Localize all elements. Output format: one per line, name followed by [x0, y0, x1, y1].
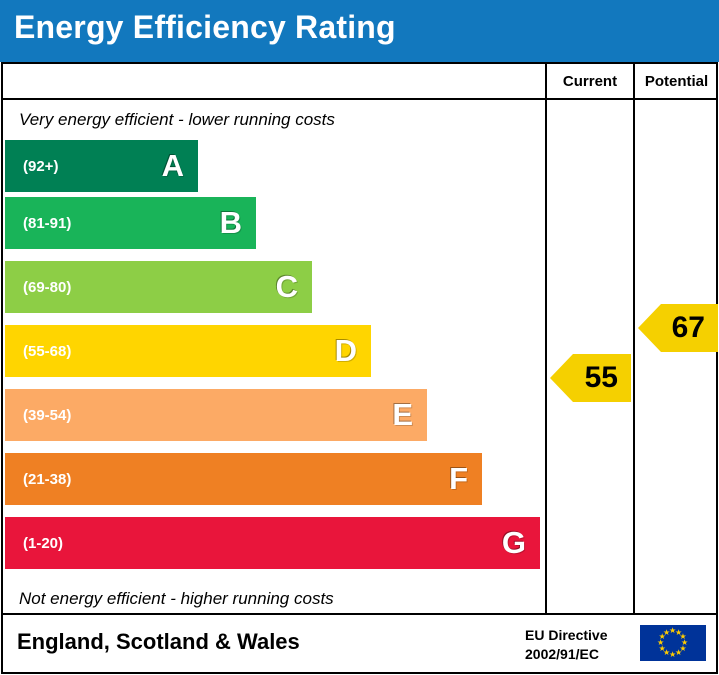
- page-title: Energy Efficiency Rating: [14, 9, 396, 46]
- band-b-letter: B: [220, 205, 242, 241]
- band-f: (21-38) F: [5, 453, 482, 505]
- chart-frame: Current Potential Very energy efficient …: [1, 62, 718, 615]
- column-header-current: Current: [547, 73, 633, 90]
- column-divider-current: [545, 64, 547, 613]
- band-d-letter: D: [335, 333, 357, 369]
- band-c-range: (69-80): [23, 279, 71, 296]
- current-rating-value: 55: [585, 361, 631, 395]
- band-a-range: (92+): [23, 158, 58, 175]
- band-d: (55-68) D: [5, 325, 371, 377]
- footer-region: England, Scotland & Wales: [17, 629, 300, 655]
- footer-directive-line1: EU Directive: [525, 626, 607, 645]
- column-header-potential: Potential: [635, 73, 718, 90]
- potential-rating-value: 67: [672, 311, 718, 345]
- column-divider-potential: [633, 64, 635, 613]
- band-c-letter: C: [276, 269, 298, 305]
- band-d-range: (55-68): [23, 343, 71, 360]
- title-bar: Energy Efficiency Rating: [0, 0, 719, 62]
- band-f-range: (21-38): [23, 471, 71, 488]
- band-g-range: (1-20): [23, 535, 63, 552]
- band-e-range: (39-54): [23, 407, 71, 424]
- band-a: (92+) A: [5, 140, 198, 192]
- band-e-letter: E: [392, 397, 413, 433]
- footer-directive: EU Directive 2002/91/EC: [525, 626, 607, 664]
- band-g: (1-20) G: [5, 517, 540, 569]
- band-f-letter: F: [449, 461, 468, 497]
- footer-directive-line2: 2002/91/EC: [525, 645, 607, 664]
- caption-top: Very energy efficient - lower running co…: [19, 110, 335, 130]
- epc-chart: Energy Efficiency Rating Current Potenti…: [0, 0, 719, 675]
- eu-flag-icon: ★★★★★★★★★★★★: [640, 625, 706, 661]
- band-a-letter: A: [162, 148, 184, 184]
- band-g-letter: G: [502, 525, 526, 561]
- rating-bands: (92+) A (81-91) B (69-80) C (55-68) D (3…: [3, 140, 543, 588]
- caption-bottom: Not energy efficient - higher running co…: [19, 589, 334, 609]
- current-rating-arrow: 55: [573, 354, 631, 402]
- band-b-range: (81-91): [23, 215, 71, 232]
- band-b: (81-91) B: [5, 197, 256, 249]
- footer: England, Scotland & Wales EU Directive 2…: [1, 615, 718, 674]
- potential-rating-arrow: 67: [661, 304, 718, 352]
- band-e: (39-54) E: [5, 389, 427, 441]
- band-c: (69-80) C: [5, 261, 312, 313]
